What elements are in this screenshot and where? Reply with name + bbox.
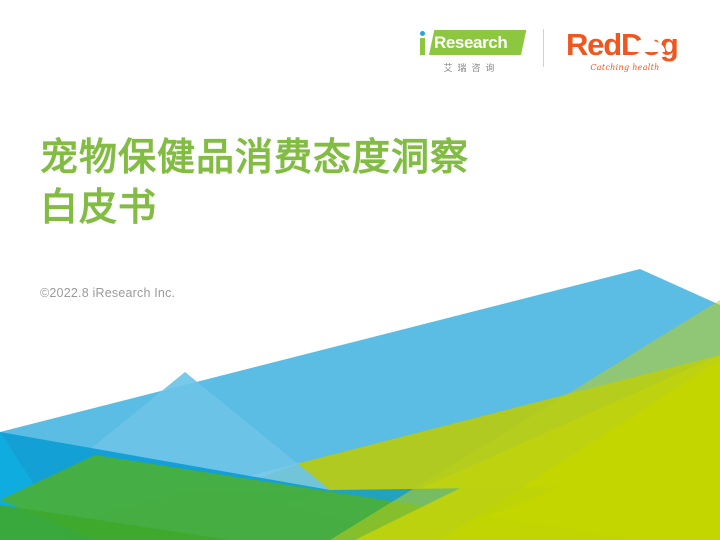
shape-green-overlay [0, 455, 640, 540]
shape-yellow-green-base [95, 305, 720, 540]
shape-green-lower-left [0, 505, 230, 540]
shape-deep-blue-wedge [0, 432, 330, 540]
title-line-1: 宠物保健品消费态度洞察 [40, 132, 640, 182]
shape-yellowgreen-lower-right [355, 360, 720, 540]
shape-olive-sliver [330, 300, 720, 540]
shape-blue-ribbon [0, 269, 720, 540]
page-title: 宠物保健品消费态度洞察 白皮书 [40, 132, 640, 232]
shape-blue-peak [40, 372, 330, 490]
iresearch-mark: Research [417, 30, 521, 56]
copyright-text: ©2022.8 iResearch Inc. [40, 286, 175, 300]
shape-green-left [0, 455, 420, 540]
reddog-wordmark: RedDog [566, 28, 698, 62]
title-line-2: 白皮书 [40, 182, 640, 232]
iresearch-wordmark: Research [434, 33, 520, 53]
shape-cyan-accent [0, 432, 70, 540]
logo-divider [543, 29, 544, 67]
shape-mid-green [95, 455, 640, 540]
shape-olive-band [95, 305, 720, 540]
iresearch-i-dot-icon [420, 31, 425, 36]
iresearch-chinese-name: 艾瑞咨询 [438, 61, 499, 74]
cover-slide: Research 艾瑞咨询 RedDog Catching health 宠物保… [0, 0, 720, 540]
logo-bar: Research 艾瑞咨询 RedDog Catching health [415, 28, 698, 82]
reddog-tagline: Catching health [566, 63, 698, 72]
reddog-logo[interactable]: RedDog Catching health [566, 28, 698, 72]
iresearch-i-stem-icon [420, 38, 425, 55]
iresearch-logo[interactable]: Research 艾瑞咨询 [415, 28, 523, 74]
shape-deep-blue-band [160, 487, 560, 540]
